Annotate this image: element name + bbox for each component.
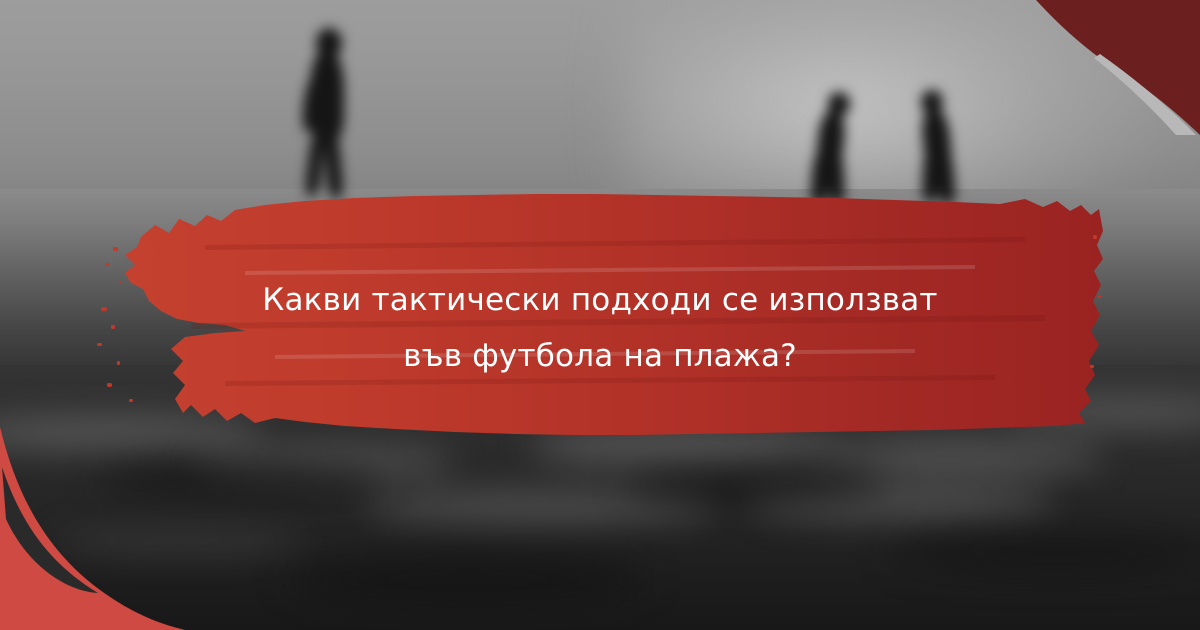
paint-speck [117,361,120,365]
paint-speck [1098,295,1101,298]
paint-speck [107,383,112,387]
paint-speck [119,281,122,284]
walking-person-silhouette [290,28,370,196]
page-title: Какви тактически подходи се използват въ… [150,272,1050,384]
social-share-card: Какви тактически подходи се използват въ… [0,0,1200,630]
paint-speck [111,325,115,329]
paint-speck [1093,235,1097,239]
paint-speck [129,399,133,402]
paint-speck [1090,365,1094,368]
paint-speck [113,247,118,251]
paint-speck [105,263,109,266]
paint-speck [101,307,107,311]
headline-line-1: Какви тактически подходи се използват [150,272,1050,328]
paint-speck [97,343,102,346]
headline-line-2: във футбола на плажа? [150,328,1050,384]
